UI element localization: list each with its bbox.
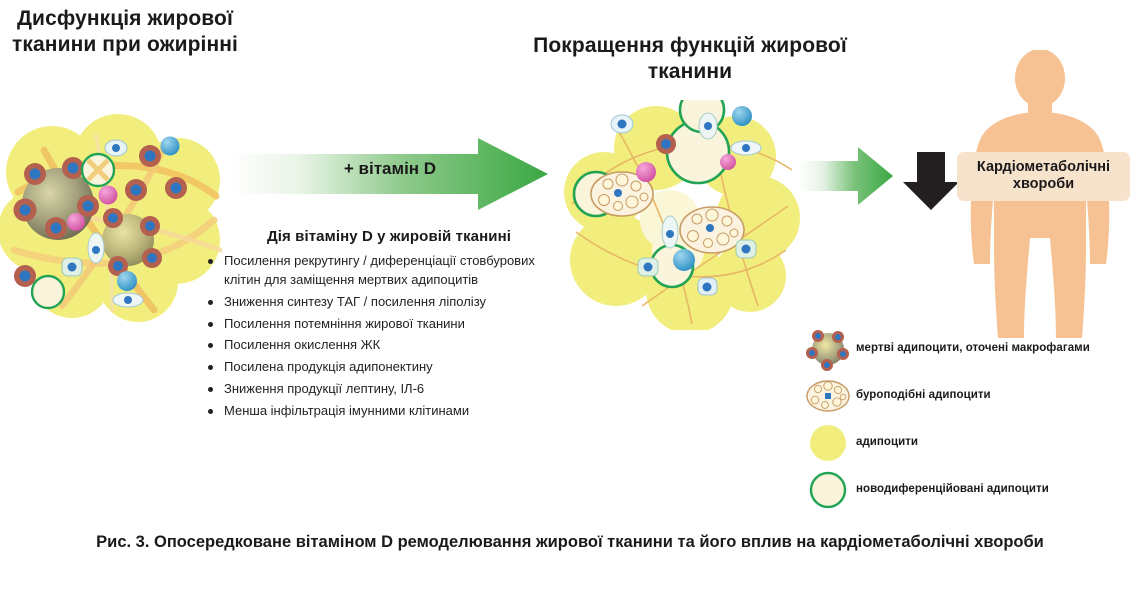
immune-cell [731,141,761,155]
dysfunctional-adipose-tissue-illustration [0,100,235,330]
pink-cell [99,186,118,205]
vitamin-d-action-panel: Дія вітаміну D у жировій тканині Посилен… [203,228,575,424]
cardiometabolic-disease-box: Кардіометаболічні хвороби [957,152,1130,201]
legend-item-brown-like-adipocytes: буроподібні адипоцити [800,372,1135,419]
list-item: Зниження синтезу ТАГ / посилення ліполіз… [203,293,575,312]
newly-differentiated-adipocyte-icon [800,469,856,511]
immune-cell [161,137,180,156]
immune-cell [117,271,137,291]
macrophage [656,134,676,154]
legend-label: адипоцити [856,435,918,449]
down-arrow-icon [903,150,963,212]
legend-label: новодиференційовані адипоцити [856,482,1049,496]
immune-cell [736,240,756,258]
left-heading: Дисфункція жирової тканини при ожирінні [0,6,250,57]
immune-cell [732,106,752,126]
vitamin-d-arrow-label: + вітамін D [230,159,550,179]
macrophage [103,208,123,228]
list-item: Менша інфільтрація імунними клітинами [203,402,575,421]
immune-cell [62,258,82,276]
pink-cell [636,162,656,182]
pink-cell [67,213,85,231]
list-item: Посилення потемніння жирової тканини [203,315,575,334]
brown-like-adipocyte [680,207,744,253]
center-heading: Покращення функцій жирової тканини [515,33,865,84]
list-item: Посилення рекрутингу / диференціації сто… [203,252,575,290]
legend-item-adipocytes: адипоцити [800,419,1135,466]
immune-cell [88,233,104,263]
legend-label: буроподібні адипоцити [856,388,991,402]
macrophage [24,163,46,185]
macrophage [142,248,162,268]
macrophage [14,265,36,287]
newly-differentiated-adipocyte [82,154,114,186]
immune-cell [113,293,143,307]
macrophage [165,177,187,199]
immune-cell [611,115,633,133]
adipocyte-icon [800,422,856,464]
macrophage [139,145,161,167]
macrophage [125,179,147,201]
torso-and-limbs [971,112,1110,338]
immune-cell [698,278,717,295]
legend-item-dead-adipocytes: мертві адипоцити, оточені макрофагами [800,325,1135,372]
macrophage [77,195,99,217]
immune-cell [699,113,717,139]
improved-adipose-tissue-illustration [560,100,800,330]
legend: мертві адипоцити, оточені макрофагами бу… [800,325,1135,513]
macrophage [62,157,84,179]
list-item: Зниження продукції лептину, ІЛ-6 [203,380,575,399]
immune-cell [673,249,695,271]
legend-item-newly-differentiated-adipocytes: новодиференційовані адипоцити [800,466,1135,513]
legend-label: мертві адипоцити, оточені макрофагами [856,341,1090,355]
macrophage [45,217,67,239]
immune-cell [638,258,658,276]
figure-caption: Рис. 3. Опосередковане вітаміном D ремод… [60,532,1080,554]
list-item: Посилення окислення ЖК [203,336,575,355]
outcome-arrow [798,145,893,207]
immune-cell [105,140,127,156]
dead-adipocyte-icon [800,327,856,371]
action-list: Посилення рекрутингу / диференціації сто… [203,252,575,421]
list-item: Посилена продукція адипонектину [203,358,575,377]
brown-like-adipocyte-icon [800,378,856,414]
head [1015,50,1065,107]
pink-cell [720,154,736,170]
macrophage [14,199,37,222]
macrophage [140,216,160,236]
newly-differentiated-adipocyte [32,276,64,308]
action-panel-title: Дія вітаміну D у жировій тканині [203,228,575,245]
immune-cell [662,216,678,248]
